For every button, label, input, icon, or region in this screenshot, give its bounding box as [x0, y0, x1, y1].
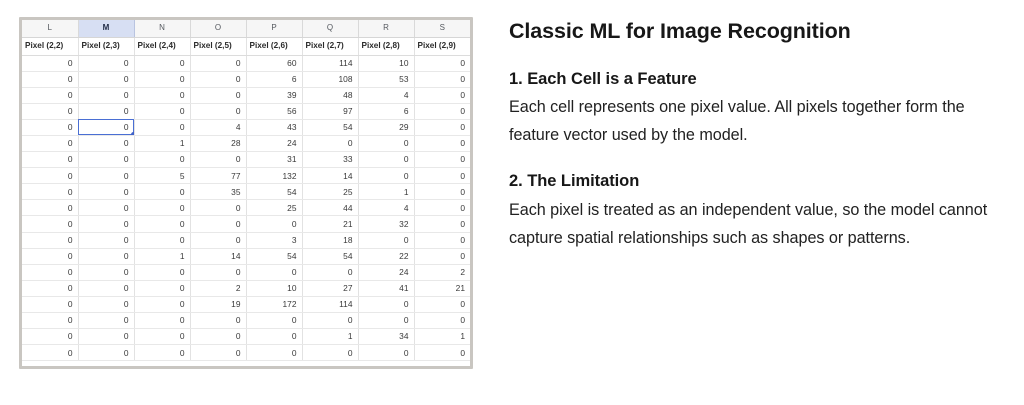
- pixel-value-cell[interactable]: 0: [358, 168, 414, 184]
- pixel-value-cell[interactable]: 0: [134, 55, 190, 71]
- table-row[interactable]: 00006108530: [22, 71, 470, 87]
- pixel-value-cell[interactable]: 0: [190, 329, 246, 345]
- pixel-value-cell[interactable]: 0: [78, 103, 134, 119]
- column-header-o[interactable]: O: [190, 20, 246, 37]
- pixel-value-cell[interactable]: 108: [302, 71, 358, 87]
- pixel-value-cell[interactable]: 0: [22, 216, 78, 232]
- pixel-value-cell[interactable]: 0: [190, 232, 246, 248]
- pixel-value-cell[interactable]: 6: [358, 103, 414, 119]
- column-header-m[interactable]: M: [78, 20, 134, 37]
- pixel-value-cell[interactable]: 0: [78, 71, 134, 87]
- table-body[interactable]: Pixel (2,2)Pixel (2,3)Pixel (2,4)Pixel (…: [22, 37, 470, 361]
- pixel-value-cell[interactable]: 29: [358, 119, 414, 135]
- pixel-value-cell[interactable]: 0: [78, 329, 134, 345]
- pixel-value-cell[interactable]: 0: [134, 71, 190, 87]
- pixel-value-cell[interactable]: 54: [302, 248, 358, 264]
- pixel-value-cell[interactable]: 0: [414, 184, 470, 200]
- pixel-value-cell[interactable]: 0: [190, 71, 246, 87]
- pixel-value-cell[interactable]: 0: [246, 345, 302, 361]
- pixel-value-cell[interactable]: 0: [414, 135, 470, 151]
- field-label-cell[interactable]: Pixel (2,8): [358, 37, 414, 55]
- table-row[interactable]: 0000254440: [22, 200, 470, 216]
- pixel-value-cell[interactable]: 0: [78, 296, 134, 312]
- column-header-q[interactable]: Q: [302, 20, 358, 37]
- pixel-value-cell[interactable]: 0: [302, 135, 358, 151]
- pixel-value-cell[interactable]: 0: [414, 71, 470, 87]
- table-row[interactable]: 00000000: [22, 345, 470, 361]
- pixel-value-cell[interactable]: 0: [134, 200, 190, 216]
- pixel-value-cell[interactable]: 10: [358, 55, 414, 71]
- pixel-value-cell[interactable]: 0: [358, 232, 414, 248]
- pixel-value-cell[interactable]: 0: [22, 135, 78, 151]
- table-row[interactable]: 000000242: [22, 264, 470, 280]
- pixel-value-cell[interactable]: 4: [358, 87, 414, 103]
- pixel-value-cell[interactable]: 0: [302, 345, 358, 361]
- pixel-value-cell[interactable]: 0: [358, 313, 414, 329]
- pixel-value-cell[interactable]: 0: [302, 264, 358, 280]
- pixel-value-cell[interactable]: 0: [78, 280, 134, 296]
- section-the-limitation: 2. The Limitation Each pixel is treated …: [509, 172, 999, 253]
- pixel-value-cell[interactable]: 0: [22, 55, 78, 71]
- pixel-value-cell[interactable]: 0: [134, 87, 190, 103]
- pixel-value-cell[interactable]: 21: [414, 280, 470, 296]
- pixel-value-cell[interactable]: 0: [78, 168, 134, 184]
- pixel-value-cell[interactable]: 0: [190, 152, 246, 168]
- pixel-value-cell[interactable]: 0: [22, 296, 78, 312]
- pixel-value-cell[interactable]: 132: [246, 168, 302, 184]
- pixel-value-cell[interactable]: 0: [134, 216, 190, 232]
- pixel-value-cell[interactable]: 0: [78, 200, 134, 216]
- column-header-r[interactable]: R: [358, 20, 414, 37]
- pixel-value-cell[interactable]: 2: [190, 280, 246, 296]
- pixel-value-cell[interactable]: 0: [22, 152, 78, 168]
- pixel-value-cell[interactable]: 0: [134, 232, 190, 248]
- pixel-value-cell[interactable]: 0: [414, 55, 470, 71]
- pixel-value-cell[interactable]: 0: [246, 329, 302, 345]
- pixel-value-cell[interactable]: 44: [302, 200, 358, 216]
- column-header-l[interactable]: L: [22, 20, 78, 37]
- pixel-value-cell[interactable]: 1: [134, 248, 190, 264]
- pixel-value-cell[interactable]: 0: [414, 216, 470, 232]
- field-label-cell[interactable]: Pixel (2,7): [302, 37, 358, 55]
- pixel-value-cell[interactable]: 0: [78, 232, 134, 248]
- table-row[interactable]: 0000569760: [22, 103, 470, 119]
- field-label-cell[interactable]: Pixel (2,4): [134, 37, 190, 55]
- table-row[interactable]: 0000021320: [22, 216, 470, 232]
- pixel-value-cell[interactable]: 0: [302, 313, 358, 329]
- pixel-value-cell[interactable]: 0: [134, 152, 190, 168]
- pixel-value-cell[interactable]: 0: [78, 87, 134, 103]
- pixel-value-cell[interactable]: 0: [22, 71, 78, 87]
- section-body: Each cell represents one pixel value. Al…: [509, 94, 999, 150]
- pixel-value-cell[interactable]: 54: [302, 119, 358, 135]
- pixel-value-cell[interactable]: 0: [414, 152, 470, 168]
- pixel-value-cell[interactable]: 0: [134, 329, 190, 345]
- pixel-value-cell[interactable]: 54: [246, 184, 302, 200]
- pixel-value-cell[interactable]: 53: [358, 71, 414, 87]
- pixel-value-cell[interactable]: 32: [358, 216, 414, 232]
- table-row[interactable]: 0001917211400: [22, 296, 470, 312]
- pixel-value-cell[interactable]: 14: [190, 248, 246, 264]
- pixel-value-cell[interactable]: 0: [134, 103, 190, 119]
- pixel-value-cell[interactable]: 0: [22, 200, 78, 216]
- pixel-value-cell[interactable]: 22: [358, 248, 414, 264]
- field-label-cell[interactable]: Pixel (2,6): [246, 37, 302, 55]
- pixel-value-cell[interactable]: 0: [414, 87, 470, 103]
- pixel-value-cell[interactable]: 0: [134, 313, 190, 329]
- pixel-value-cell[interactable]: 0: [190, 216, 246, 232]
- pixel-value-cell[interactable]: 0: [358, 345, 414, 361]
- pixel-value-cell[interactable]: 0: [134, 264, 190, 280]
- article-panel: Classic ML for Image Recognition 1. Each…: [509, 20, 999, 253]
- pixel-feature-table[interactable]: LMNOPQRS Pixel (2,2)Pixel (2,3)Pixel (2,…: [22, 20, 470, 361]
- pixel-value-cell[interactable]: 0: [22, 248, 78, 264]
- field-label-cell[interactable]: Pixel (2,2): [22, 37, 78, 55]
- field-label-cell[interactable]: Pixel (2,9): [414, 37, 470, 55]
- pixel-value-cell[interactable]: 43: [246, 119, 302, 135]
- pixel-value-cell[interactable]: 41: [358, 280, 414, 296]
- field-label-row: Pixel (2,2)Pixel (2,3)Pixel (2,4)Pixel (…: [22, 37, 470, 55]
- pixel-value-cell[interactable]: 0: [190, 200, 246, 216]
- pixel-value-cell[interactable]: 24: [358, 264, 414, 280]
- spreadsheet-scroll-area[interactable]: LMNOPQRS Pixel (2,2)Pixel (2,3)Pixel (2,…: [22, 20, 470, 366]
- pixel-value-cell[interactable]: 21: [302, 216, 358, 232]
- pixel-value-cell[interactable]: 0: [78, 248, 134, 264]
- page-title: Classic ML for Image Recognition: [509, 20, 999, 44]
- table-row[interactable]: 000060114100: [22, 55, 470, 71]
- pixel-value-cell[interactable]: 31: [246, 152, 302, 168]
- pixel-value-cell[interactable]: 4: [358, 200, 414, 216]
- fill-handle-icon[interactable]: [131, 132, 134, 135]
- pixel-value-cell[interactable]: 0: [78, 135, 134, 151]
- section-heading: 1. Each Cell is a Feature: [509, 70, 999, 90]
- pixel-value-cell[interactable]: 0: [190, 55, 246, 71]
- pixel-value-cell[interactable]: 24: [246, 135, 302, 151]
- pixel-value-cell[interactable]: 0: [22, 168, 78, 184]
- pixel-value-cell[interactable]: 0: [78, 264, 134, 280]
- pixel-value-cell[interactable]: 0: [358, 135, 414, 151]
- pixel-value-cell[interactable]: 0: [78, 152, 134, 168]
- pixel-value-cell[interactable]: 0: [190, 87, 246, 103]
- pixel-value-cell[interactable]: 0: [22, 184, 78, 200]
- pixel-value-cell[interactable]: 0: [22, 329, 78, 345]
- pixel-value-cell[interactable]: 6: [246, 71, 302, 87]
- table-row[interactable]: 00044354290: [22, 119, 470, 135]
- pixel-value-cell[interactable]: 0: [190, 313, 246, 329]
- pixel-value-cell[interactable]: 0: [414, 168, 470, 184]
- pixel-value-cell[interactable]: 0: [414, 313, 470, 329]
- pixel-value-cell[interactable]: 0: [22, 103, 78, 119]
- column-header-n[interactable]: N: [134, 20, 190, 37]
- pixel-value-cell[interactable]: 0: [414, 296, 470, 312]
- pixel-value-cell[interactable]: 14: [302, 168, 358, 184]
- pixel-value-cell[interactable]: 114: [302, 55, 358, 71]
- pixel-value-cell[interactable]: 1: [358, 184, 414, 200]
- pixel-value-cell[interactable]: 0: [134, 119, 190, 135]
- pixel-value-cell[interactable]: 0: [78, 216, 134, 232]
- pixel-value-cell[interactable]: 60: [246, 55, 302, 71]
- pixel-value-cell[interactable]: 114: [302, 296, 358, 312]
- column-header-p[interactable]: P: [246, 20, 302, 37]
- pixel-value-cell[interactable]: 27: [302, 280, 358, 296]
- field-label-cell[interactable]: Pixel (2,5): [190, 37, 246, 55]
- pixel-value-cell[interactable]: 3: [246, 232, 302, 248]
- pixel-value-cell[interactable]: 35: [190, 184, 246, 200]
- pixel-value-cell[interactable]: 0: [78, 313, 134, 329]
- table-row[interactable]: 000210274121: [22, 280, 470, 296]
- pixel-value-cell[interactable]: 10: [246, 280, 302, 296]
- pixel-value-cell[interactable]: 0: [190, 264, 246, 280]
- table-row[interactable]: 0000394840: [22, 87, 470, 103]
- pixel-value-cell[interactable]: 0: [78, 184, 134, 200]
- pixel-value-cell[interactable]: 34: [358, 329, 414, 345]
- pixel-value-cell[interactable]: 0: [134, 345, 190, 361]
- table-row[interactable]: 00000000: [22, 313, 470, 329]
- pixel-value-cell[interactable]: 0: [78, 345, 134, 361]
- table-row[interactable]: 001145454220: [22, 248, 470, 264]
- pixel-value-cell[interactable]: 0: [246, 216, 302, 232]
- table-row[interactable]: 00035542510: [22, 184, 470, 200]
- pixel-value-cell[interactable]: 48: [302, 87, 358, 103]
- pixel-value-cell[interactable]: 0: [414, 119, 470, 135]
- table-row[interactable]: 0000313300: [22, 152, 470, 168]
- pixel-value-cell[interactable]: 172: [246, 296, 302, 312]
- table-row[interactable]: 000031800: [22, 232, 470, 248]
- selected-cell[interactable]: 0: [78, 119, 134, 135]
- pixel-value-cell[interactable]: 0: [22, 264, 78, 280]
- pixel-value-cell[interactable]: 0: [414, 232, 470, 248]
- pixel-value-cell[interactable]: 0: [22, 232, 78, 248]
- pixel-value-cell[interactable]: 0: [134, 184, 190, 200]
- pixel-value-cell[interactable]: 0: [22, 313, 78, 329]
- section-body: Each pixel is treated as an independent …: [509, 197, 999, 253]
- pixel-value-cell[interactable]: 0: [358, 152, 414, 168]
- pixel-value-cell[interactable]: 4: [190, 119, 246, 135]
- table-row[interactable]: 0012824000: [22, 135, 470, 151]
- pixel-value-cell[interactable]: 0: [190, 103, 246, 119]
- pixel-value-cell[interactable]: 0: [22, 87, 78, 103]
- pixel-value-cell[interactable]: 0: [22, 345, 78, 361]
- pixel-value-cell[interactable]: 0: [134, 296, 190, 312]
- section-each-cell-is-a-feature: 1. Each Cell is a Feature Each cell repr…: [509, 70, 999, 151]
- pixel-value-cell[interactable]: 77: [190, 168, 246, 184]
- pixel-value-cell[interactable]: 1: [134, 135, 190, 151]
- pixel-value-cell[interactable]: 0: [414, 345, 470, 361]
- pixel-value-cell[interactable]: 0: [414, 248, 470, 264]
- pixel-value-cell[interactable]: 56: [246, 103, 302, 119]
- column-header-s[interactable]: S: [414, 20, 470, 37]
- pixel-value-cell[interactable]: 18: [302, 232, 358, 248]
- pixel-value-cell[interactable]: 0: [190, 345, 246, 361]
- pixel-value-cell[interactable]: 5: [134, 168, 190, 184]
- pixel-value-cell[interactable]: 39: [246, 87, 302, 103]
- pixel-value-cell[interactable]: 1: [302, 329, 358, 345]
- spreadsheet-panel[interactable]: LMNOPQRS Pixel (2,2)Pixel (2,3)Pixel (2,…: [19, 17, 473, 369]
- pixel-value-cell[interactable]: 0: [78, 55, 134, 71]
- pixel-value-cell[interactable]: 54: [246, 248, 302, 264]
- field-label-cell[interactable]: Pixel (2,3): [78, 37, 134, 55]
- pixel-value-cell[interactable]: 25: [302, 184, 358, 200]
- pixel-value-cell[interactable]: 0: [134, 280, 190, 296]
- pixel-value-cell[interactable]: 0: [246, 264, 302, 280]
- pixel-value-cell[interactable]: 97: [302, 103, 358, 119]
- column-header-row: LMNOPQRS: [22, 20, 470, 37]
- pixel-value-cell[interactable]: 0: [414, 200, 470, 216]
- pixel-value-cell[interactable]: 33: [302, 152, 358, 168]
- pixel-value-cell[interactable]: 0: [22, 280, 78, 296]
- pixel-value-cell[interactable]: 0: [22, 119, 78, 135]
- pixel-value-cell[interactable]: 19: [190, 296, 246, 312]
- pixel-value-cell[interactable]: 0: [358, 296, 414, 312]
- slide-canvas: LMNOPQRS Pixel (2,2)Pixel (2,3)Pixel (2,…: [0, 0, 1024, 405]
- table-row[interactable]: 005771321400: [22, 168, 470, 184]
- section-heading: 2. The Limitation: [509, 172, 999, 192]
- pixel-value-cell[interactable]: 0: [414, 103, 470, 119]
- pixel-value-cell[interactable]: 1: [414, 329, 470, 345]
- pixel-value-cell[interactable]: 25: [246, 200, 302, 216]
- pixel-value-cell[interactable]: 28: [190, 135, 246, 151]
- pixel-value-cell[interactable]: 0: [246, 313, 302, 329]
- pixel-value-cell[interactable]: 2: [414, 264, 470, 280]
- table-row[interactable]: 000001341: [22, 329, 470, 345]
